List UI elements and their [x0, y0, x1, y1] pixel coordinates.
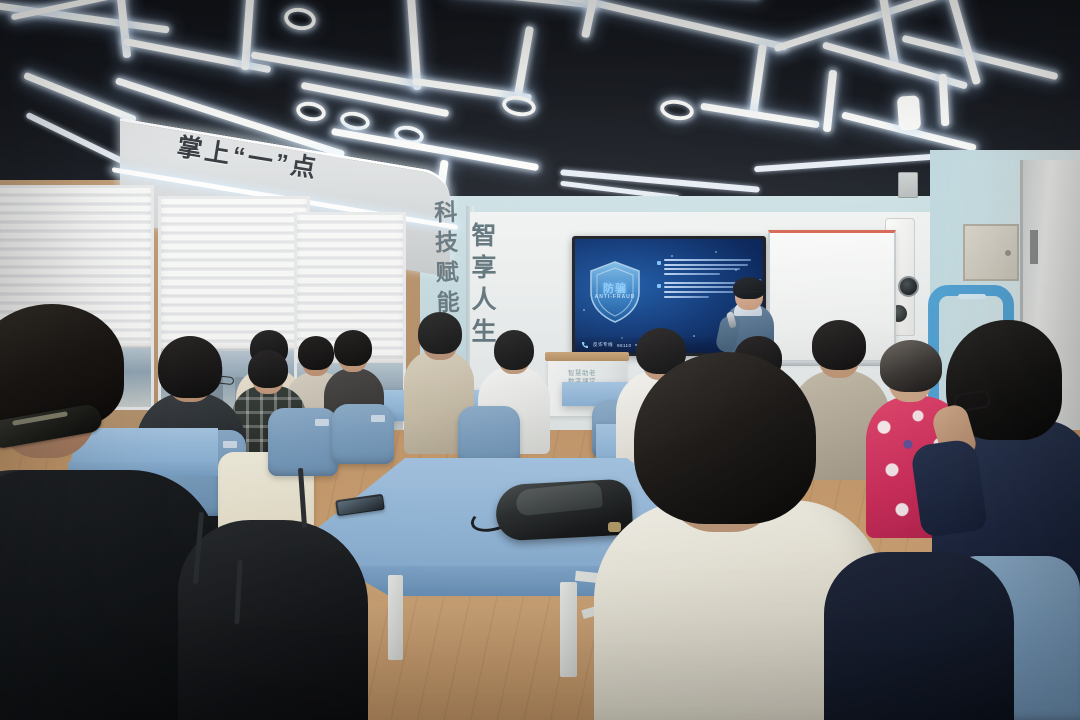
bullet-icon: [657, 284, 661, 288]
chair-blue[interactable]: [458, 406, 520, 464]
attendee-right-foreground: [824, 552, 1014, 720]
slide-footer-label: 反诈专线: [593, 342, 613, 348]
table-leg: [388, 575, 403, 660]
chair-blue[interactable]: [332, 404, 394, 464]
attendee-hair: [248, 350, 288, 388]
wall-vent: [898, 172, 918, 198]
roller-blind[interactable]: [161, 199, 307, 351]
attendee-dark-shoulder: [178, 520, 368, 720]
attendee-hair: [158, 336, 222, 398]
chair-tag: [315, 419, 329, 426]
chair-tag: [371, 415, 385, 422]
chair-tag: [223, 441, 237, 448]
phone-graphic-speaker: [958, 294, 986, 299]
wall-slogan-left: 科技赋能: [426, 200, 463, 321]
attendee-hair-grey: [880, 340, 942, 392]
table-leg: [560, 582, 577, 677]
attendee-hair: [418, 312, 462, 354]
access-panel: [963, 224, 1019, 281]
presenter-glasses-icon: [737, 291, 761, 296]
attendee-hair: [494, 330, 534, 370]
slide-paragraph: [657, 259, 757, 275]
wall-clock-icon: [898, 276, 919, 297]
shield-subtitle-text: ANTI-FRAUD: [592, 294, 638, 300]
attendee-sleeve: [910, 438, 988, 538]
attendee-body: [178, 520, 368, 720]
photo-scene: 掌上“一”点 科技赋能 智享人生: [0, 0, 1080, 720]
attendee-body: [824, 552, 1014, 720]
attendee-hair: [634, 352, 816, 524]
chair-blue[interactable]: [268, 408, 338, 476]
bullet-icon: [657, 261, 661, 265]
attendee-hair: [334, 330, 372, 366]
phone-icon: [581, 341, 589, 349]
door-hinge: [1030, 230, 1038, 264]
